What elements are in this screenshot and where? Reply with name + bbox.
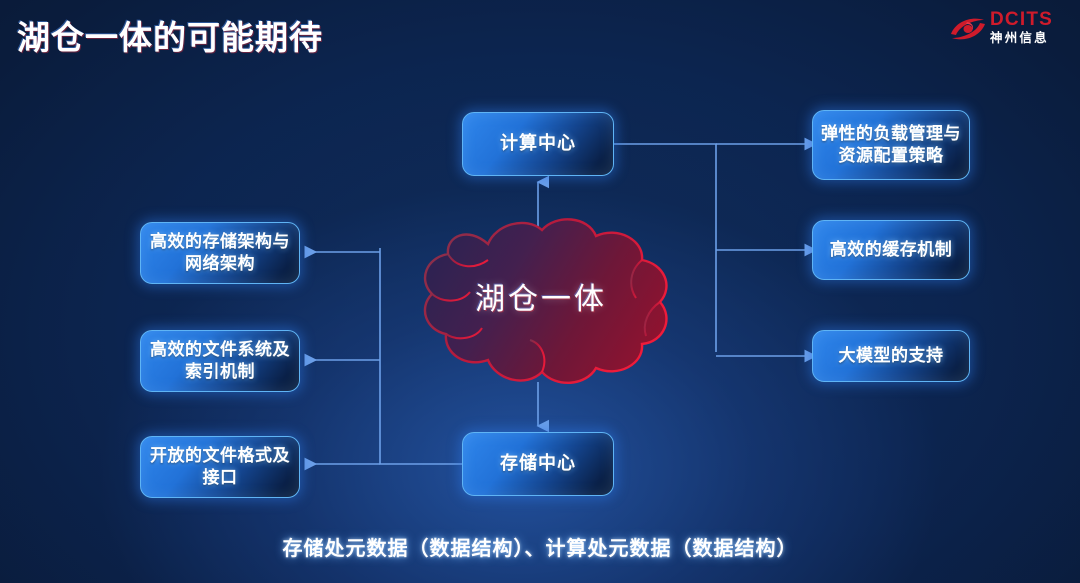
page-title: 湖仓一体的可能期待 xyxy=(17,11,323,59)
node-llm-support[interactable]: 大模型的支持 xyxy=(812,330,970,382)
node-elastic-workload[interactable]: 弹性的负载管理与资源配置策略 xyxy=(812,110,970,180)
node-open-file-format[interactable]: 开放的文件格式及接口 xyxy=(140,436,300,498)
node-compute-center[interactable]: 计算中心 xyxy=(462,112,614,176)
slide-canvas: 湖仓一体的可能期待 DCITS 神州信息 xyxy=(0,0,1080,583)
footer-caption: 存储处元数据（数据结构）、计算处元数据（数据结构） xyxy=(0,532,1080,561)
node-storage-center-label: 存储中心 xyxy=(492,452,584,475)
node-storage-network-arch-label: 高效的存储架构与网络架构 xyxy=(141,231,299,275)
node-efficient-cache[interactable]: 高效的缓存机制 xyxy=(812,220,970,280)
node-elastic-workload-label: 弹性的负载管理与资源配置策略 xyxy=(813,123,969,167)
logo-subtitle: 神州信息 xyxy=(990,31,1053,46)
node-file-system-index-label: 高效的文件系统及索引机制 xyxy=(141,339,299,383)
node-llm-support-label: 大模型的支持 xyxy=(831,345,952,367)
brand-logo: DCITS 神州信息 xyxy=(948,8,1066,60)
cloud-shape: 湖仓一体 xyxy=(396,212,686,390)
node-compute-center-label: 计算中心 xyxy=(492,132,584,155)
slide-header: 湖仓一体的可能期待 DCITS 神州信息 xyxy=(0,0,1080,72)
logo-name: DCITS xyxy=(990,10,1053,30)
node-storage-center[interactable]: 存储中心 xyxy=(462,432,614,496)
logo-text-block: DCITS 神州信息 xyxy=(990,10,1053,46)
node-open-file-format-label: 开放的文件格式及接口 xyxy=(141,445,299,489)
cloud-label: 湖仓一体 xyxy=(396,274,686,318)
dcits-swoosh-icon xyxy=(948,14,988,44)
node-storage-network-arch[interactable]: 高效的存储架构与网络架构 xyxy=(140,222,300,284)
node-file-system-index[interactable]: 高效的文件系统及索引机制 xyxy=(140,330,300,392)
node-efficient-cache-label: 高效的缓存机制 xyxy=(822,239,961,261)
